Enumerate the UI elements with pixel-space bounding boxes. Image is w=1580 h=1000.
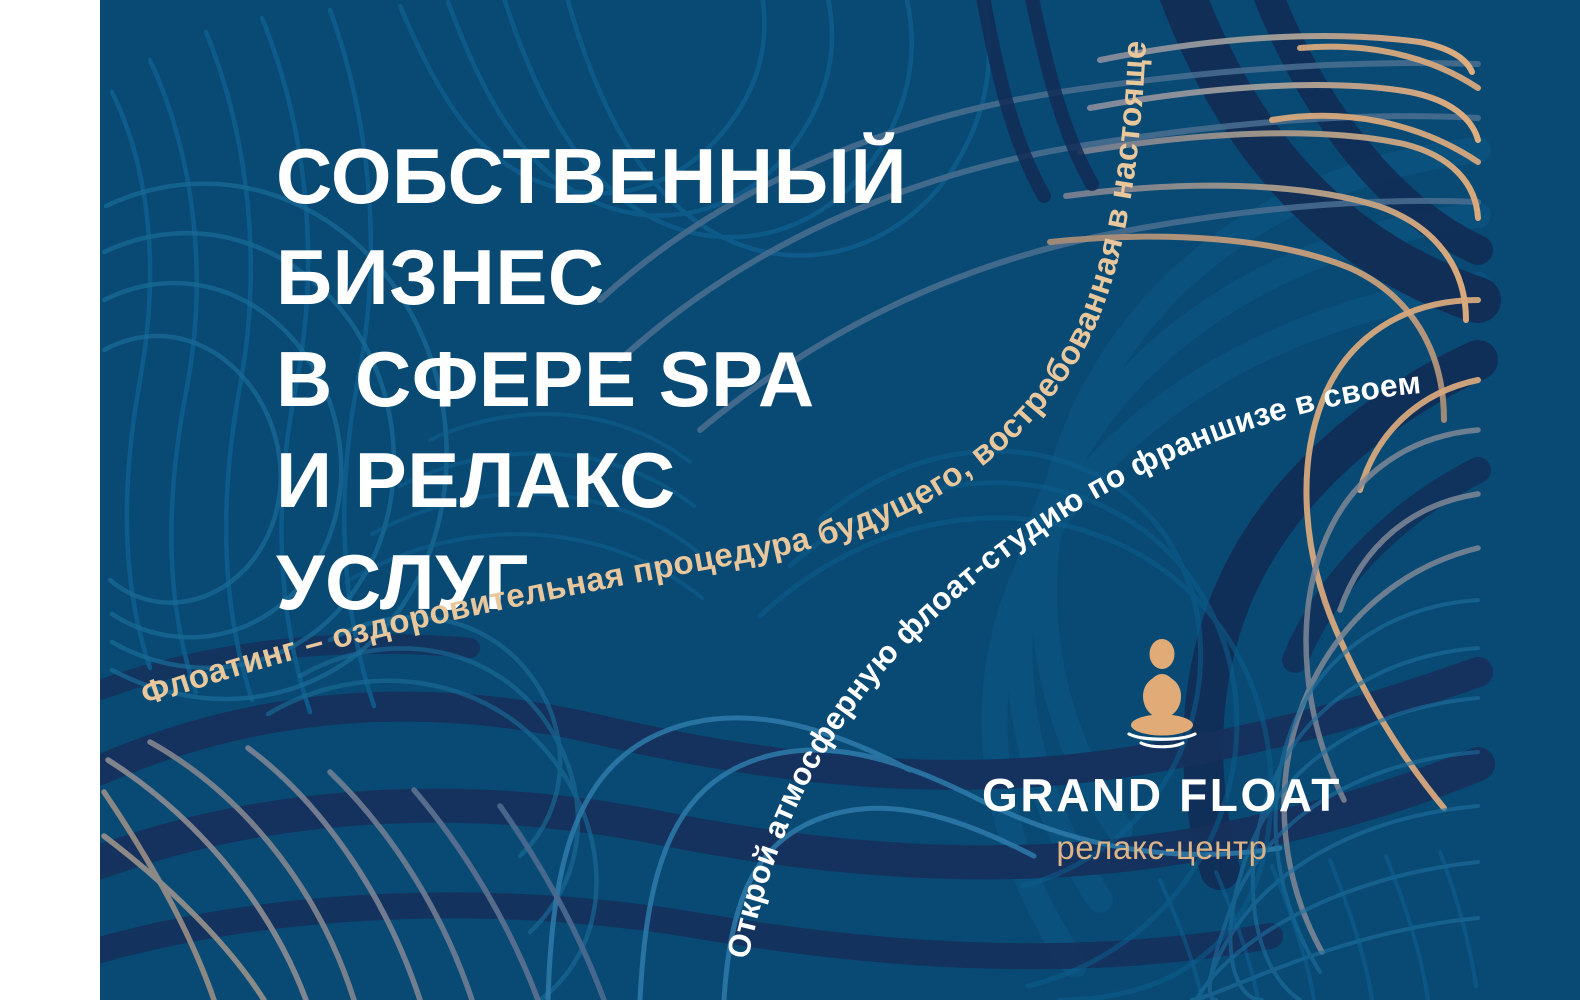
page-title: СОБСТВЕННЫЙ БИЗНЕС В СФЕРЕ SPA И РЕЛАКС … xyxy=(276,126,976,633)
floating-person-on-water-icon xyxy=(1103,638,1221,750)
logo-wordmark: GRAND FLOAT xyxy=(962,772,1362,818)
poster-root: СОБСТВЕННЫЙ БИЗНЕС В СФЕРЕ SPA И РЕЛАКС … xyxy=(0,0,1580,1000)
logo-tagline: релакс-центр xyxy=(962,831,1362,864)
brand-logo: GRAND FLOAT релакс-центр xyxy=(962,638,1362,864)
